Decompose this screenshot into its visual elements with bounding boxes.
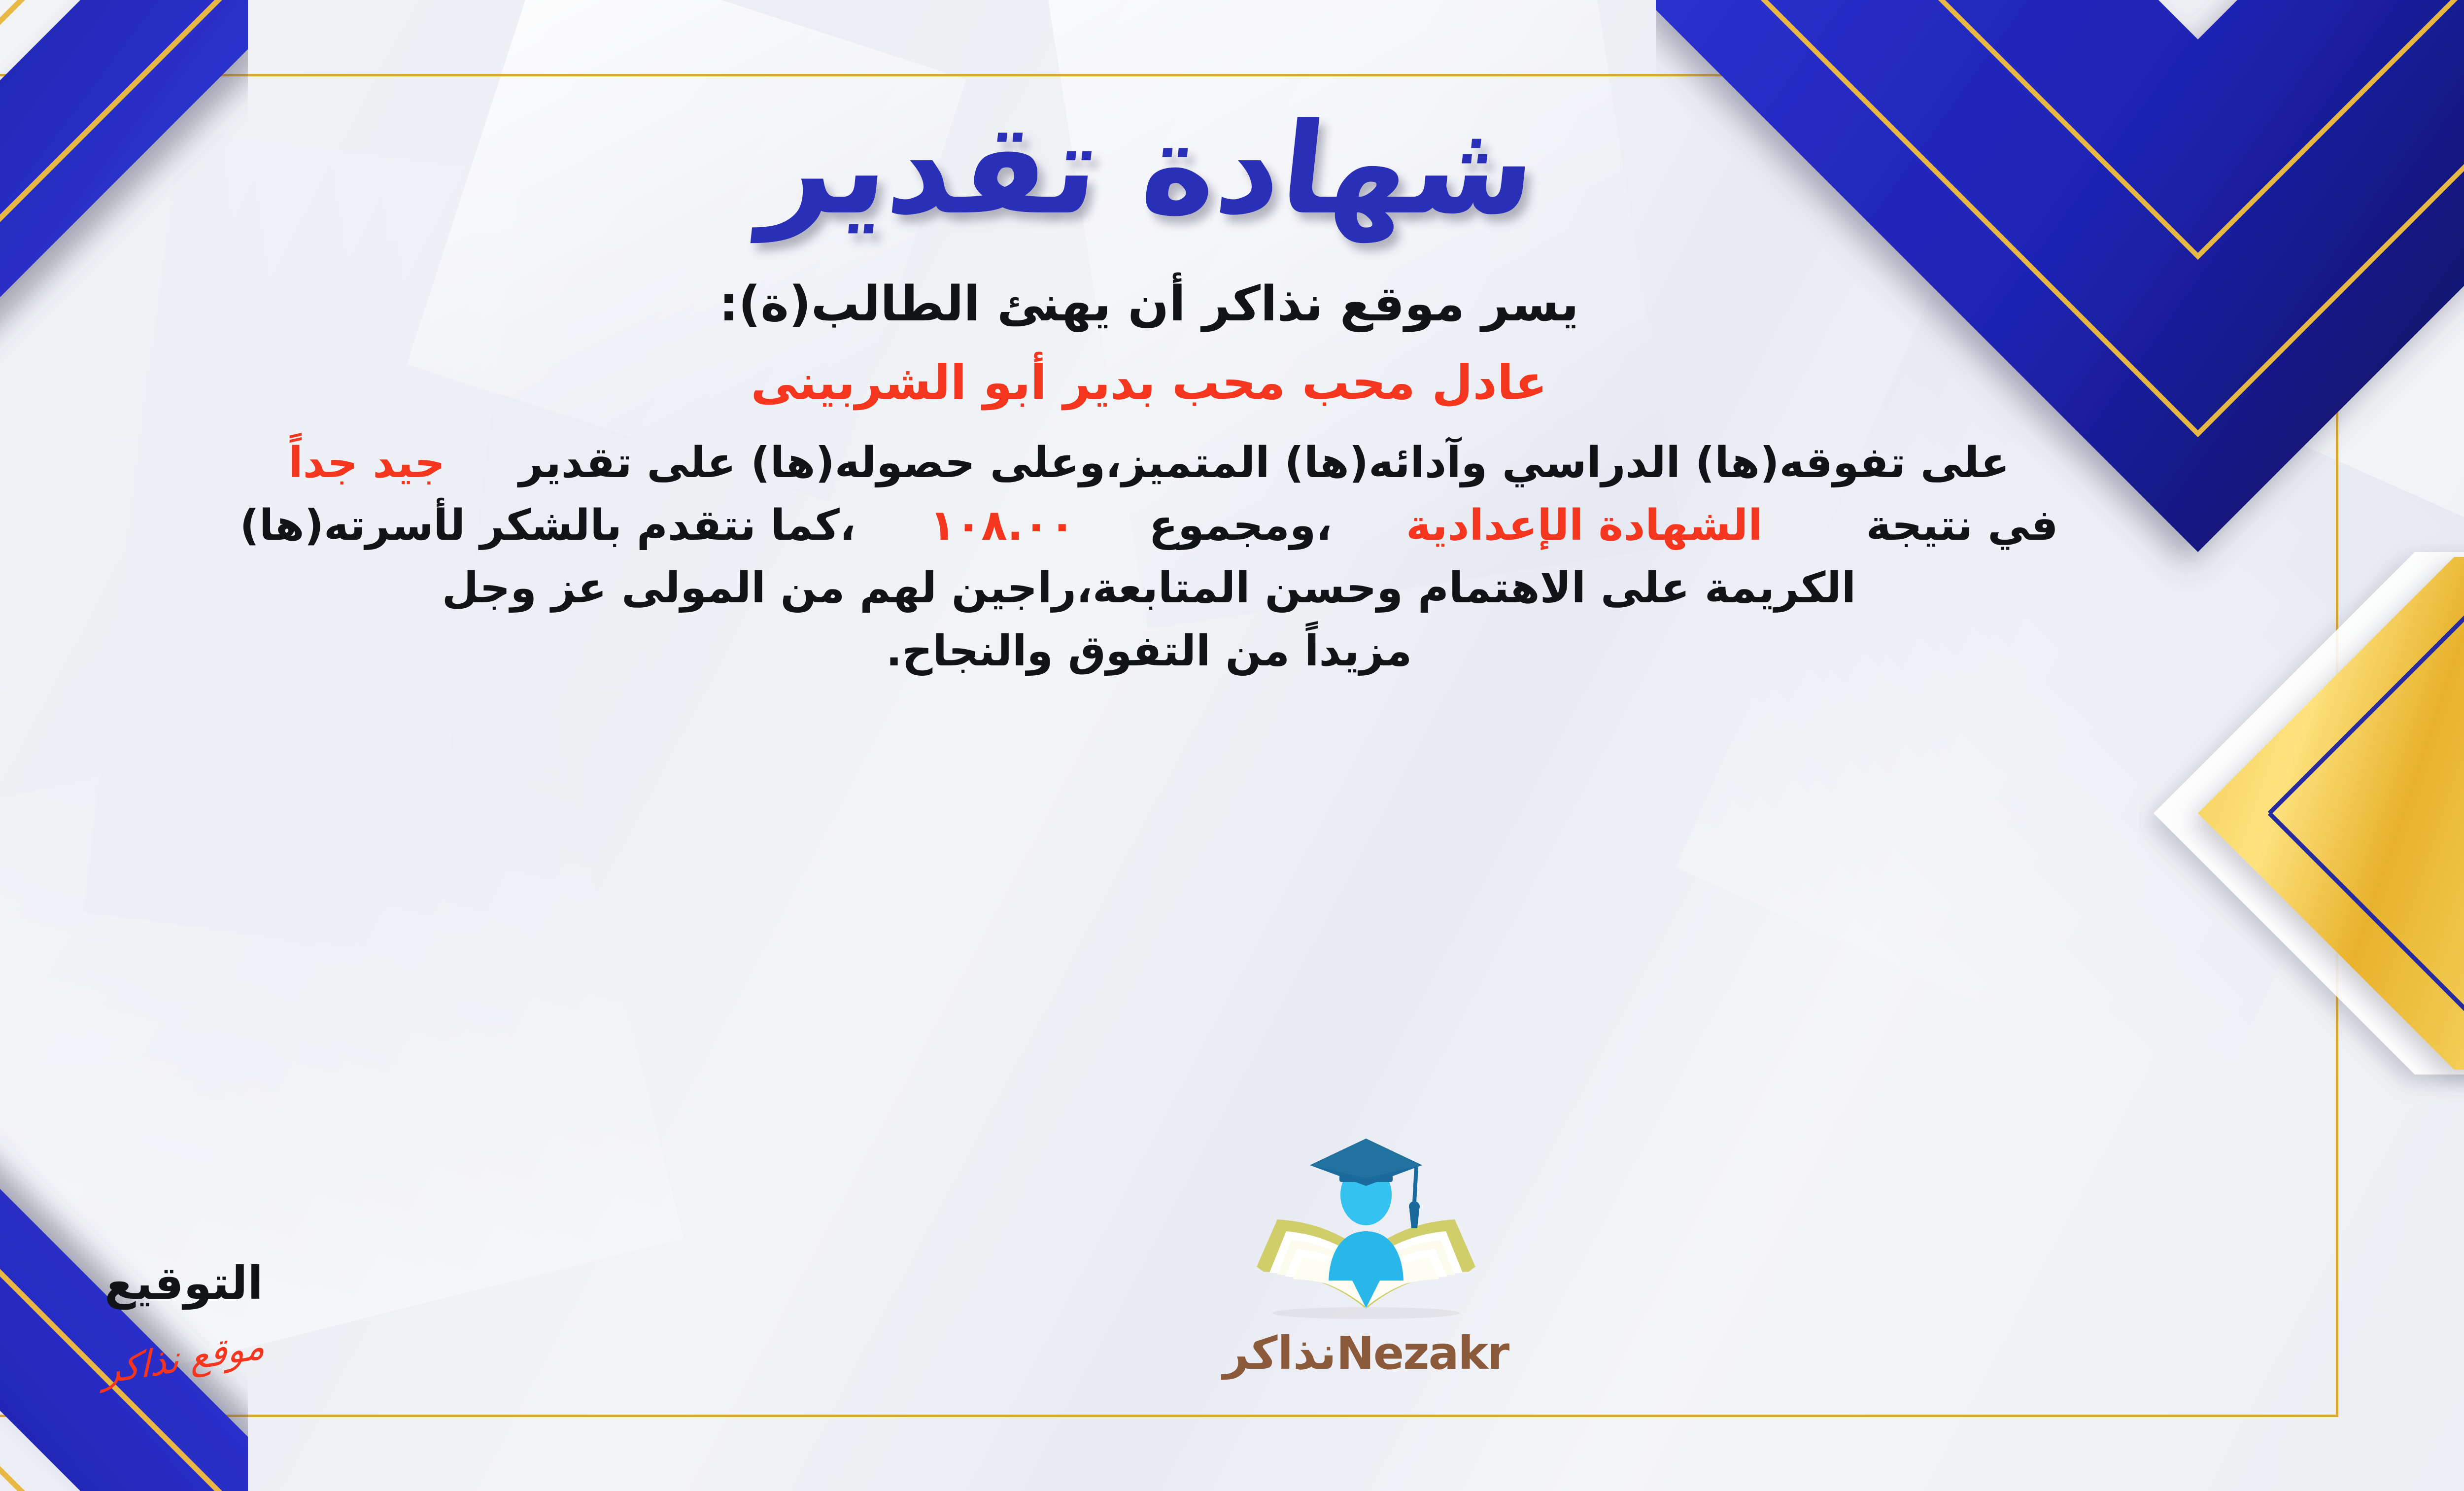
graduate-book-logo-icon <box>1228 1135 1504 1332</box>
brand-logo: Nezakrنذاكر <box>1164 1135 1568 1380</box>
body-line-2-mid: ،ومجموع <box>1149 501 1332 550</box>
certificate-canvas: شهادة تقدير يسر موقع نذاكر أن يهنئ الطال… <box>0 0 2464 1491</box>
greeting-line: يسر موقع نذاكر أن يهنئ الطالب(ة): <box>719 276 1579 332</box>
page-title: شهادة تقدير <box>756 104 1541 236</box>
exam-name: الشهادة الإعدادية <box>1406 501 1763 550</box>
certificate-footer: التوقيع موقع نذاكر <box>0 1135 2301 1407</box>
signature-label: التوقيع <box>104 1257 263 1310</box>
body-line-2-suffix: ،كما نتقدم بالشكر لأسرته(ها) <box>240 501 856 550</box>
body-line-1-text: على تفوقه(ها) الدراسي وآدائه(ها) المتميز… <box>519 438 2010 487</box>
certificate-content: شهادة تقدير يسر موقع نذاكر أن يهنئ الطال… <box>0 84 2301 1407</box>
total-score: ١٠٨.٠٠ <box>929 501 1075 550</box>
brand-wordmark: Nezakrنذاكر <box>1223 1327 1509 1380</box>
body-line-2: في نتيجة الشهادة الإعدادية ،ومجموع ١٠٨.٠… <box>0 494 2301 557</box>
brand-wordmark-arabic: نذاكر <box>1223 1327 1336 1380</box>
brand-wordmark-latin: Nezakr <box>1336 1327 1509 1380</box>
body-line-1: على تفوقه(ها) الدراسي وآدائه(ها) المتميز… <box>0 432 2301 494</box>
body-paragraph: على تفوقه(ها) الدراسي وآدائه(ها) المتميز… <box>0 432 2301 683</box>
body-line-4: مزيداً من التفوق والنجاح. <box>0 620 2301 683</box>
body-line-3: الكريمة على الاهتمام وحسن المتابعة،راجين… <box>0 557 2301 620</box>
signature-block: التوقيع موقع نذاكر <box>0 1257 371 1380</box>
grade-value: جيد جداً <box>288 438 445 487</box>
body-line-2-prefix: في نتيجة <box>1866 501 2058 550</box>
signature-script: موقع نذاكر <box>103 1324 265 1393</box>
student-name: عادل محب محب بدير أبو الشربينى <box>751 355 1547 410</box>
